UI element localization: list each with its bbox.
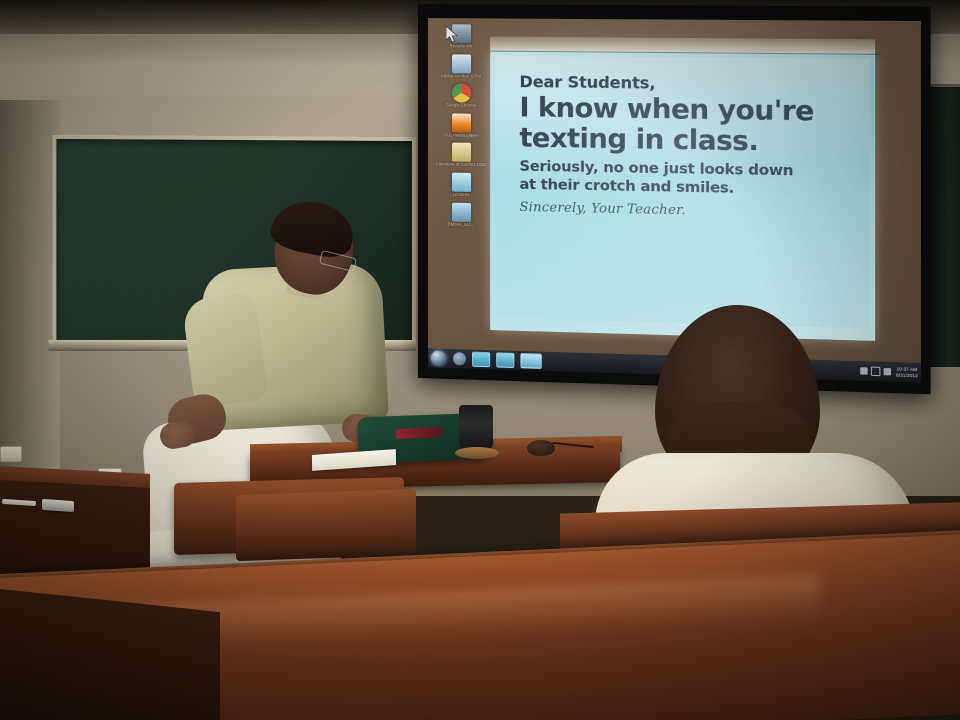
folder-icon <box>451 173 470 192</box>
folder-icon <box>451 143 470 162</box>
vlc-media-player-icon <box>451 113 470 132</box>
desktop-icon-literature-folder[interactable]: Literature of Conflict 2014 <box>432 143 490 169</box>
mobile-phone <box>42 499 74 512</box>
taskbar-item-1[interactable] <box>472 352 490 368</box>
presentation-slide[interactable]: Dear Students, I know when you're textin… <box>490 52 875 341</box>
desktop-icon-recycle-bin[interactable]: Recycle Bin <box>432 24 490 49</box>
black-bottle <box>459 405 493 451</box>
desktop-icon-vlc[interactable]: VLC media player <box>432 113 490 138</box>
document-icon <box>451 202 470 221</box>
computer-mouse[interactable] <box>527 440 555 456</box>
instructor-sleeve <box>182 292 269 408</box>
adobe-acrobat-icon <box>451 54 470 73</box>
start-orb-icon[interactable] <box>431 350 446 365</box>
wall-outlet-low <box>0 446 22 462</box>
left-wall <box>0 100 60 500</box>
desktop-icon-document[interactable]: DMSW_241... <box>432 202 490 228</box>
bottle-base <box>455 447 499 459</box>
desktop-icon-label: Lectures <box>432 192 490 198</box>
desktop-icon-label: Adobe Acrobat X Pro <box>432 74 490 79</box>
slide-signature: Sincerely, Your Teacher. <box>519 200 857 222</box>
desktop-icon-label: VLC media player <box>432 133 490 138</box>
desktop-icon-adobe-acrobat[interactable]: Adobe Acrobat X Pro <box>432 54 490 79</box>
google-chrome-icon <box>451 84 470 103</box>
desktop-icon-label: Google Chrome <box>432 103 490 108</box>
internet-explorer-icon[interactable] <box>453 352 466 365</box>
slide-line-3: texting in class. <box>519 123 857 158</box>
image-viewer-item[interactable] <box>520 353 541 369</box>
classroom-photo: Recycle Bin Adobe Acrobat X Pro Google C… <box>0 0 960 720</box>
front-desk-left-shadow <box>0 588 220 720</box>
chair-back-mid <box>236 489 416 561</box>
desktop-icon-google-chrome[interactable]: Google Chrome <box>432 83 490 108</box>
desktop-icon-label: DMSW_241... <box>432 222 490 228</box>
media-player-item[interactable] <box>496 352 514 368</box>
desktop-icon-label: Literature of Conflict 2014 <box>432 163 490 169</box>
slide-line-1: Dear Students, <box>519 72 857 95</box>
desktop-icon-lectures-folder[interactable]: Lectures <box>432 172 490 198</box>
slide-content: Dear Students, I know when you're textin… <box>495 56 870 329</box>
desktop-icon-column: Recycle Bin Adobe Acrobat X Pro Google C… <box>432 24 490 233</box>
desktop-icon-label: Recycle Bin <box>432 44 490 49</box>
